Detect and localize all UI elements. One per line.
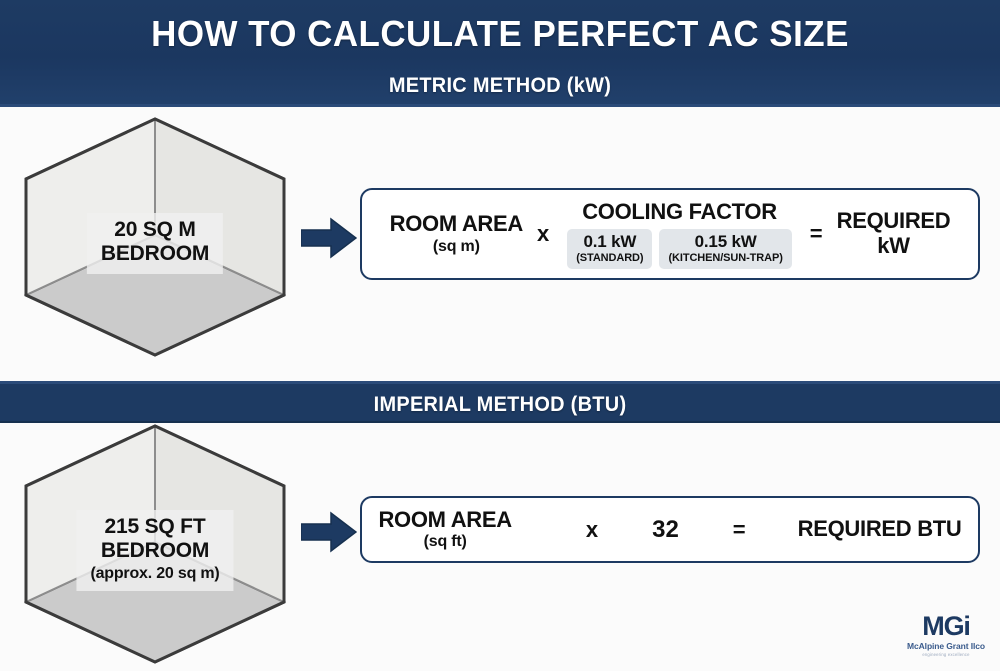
operator-multiply-metric: x — [523, 221, 563, 247]
page-title: HOW TO CALCULATE PERFECT AC SIZE — [15, 13, 985, 55]
infographic-page: HOW TO CALCULATE PERFECT AC SIZE METRIC … — [0, 0, 1000, 671]
room-area-approx-imperial: (approx. 20 sq m) — [90, 564, 219, 584]
logo-company-name: McAlpine Grant Ilco — [906, 642, 986, 651]
operator-equals-metric: = — [796, 221, 837, 247]
operator-multiply-imperial: x — [572, 517, 612, 543]
room-area-unit-metric: (sq m) — [390, 237, 523, 256]
room-area-label-metric: ROOM AREA — [390, 212, 523, 237]
imperial-section-title: IMPERIAL METHOD (BTU) — [25, 393, 975, 417]
room-diagram-imperial: 215 SQ FT BEDROOM (approx. 20 sq m) — [24, 424, 286, 664]
cooling-factor-label: COOLING FACTOR — [567, 199, 792, 225]
company-logo: MGi McAlpine Grant Ilco engineering exce… — [906, 613, 986, 657]
chip-kitchen-suntrap: 0.15 kW (KITCHEN/SUN-TRAP) — [659, 229, 791, 270]
result-label-imperial: REQUIRED BTU — [798, 517, 962, 542]
room-type-imperial: BEDROOM — [90, 539, 219, 563]
arrow-icon-imperial — [301, 511, 357, 553]
operator-equals-imperial: = — [719, 517, 760, 543]
formula-box-imperial: ROOM AREA (sq ft) x 32 = REQUIRED BTU — [360, 496, 980, 563]
header-banner: HOW TO CALCULATE PERFECT AC SIZE METRIC … — [0, 0, 1000, 107]
chip-kitchen-suntrap-value: 0.15 kW — [668, 233, 782, 252]
multiplier-value-imperial: 32 — [652, 516, 679, 544]
arrow-icon-metric — [301, 217, 357, 259]
chip-standard: 0.1 kW (STANDARD) — [567, 229, 652, 270]
term-result-metric: REQUIRED kW — [837, 209, 951, 258]
room-label-imperial: 215 SQ FT BEDROOM (approx. 20 sq m) — [76, 510, 233, 591]
room-diagram-metric: 20 SQ M BEDROOM — [24, 117, 286, 357]
logo-tagline: engineering excellence — [906, 653, 986, 657]
cooling-factor-chips: 0.1 kW (STANDARD) 0.15 kW (KITCHEN/SUN-T… — [567, 229, 792, 270]
room-area-unit-imperial: (sq ft) — [378, 532, 511, 551]
room-area-metric: 20 SQ M — [101, 218, 209, 242]
term-room-area-metric: ROOM AREA (sq m) — [390, 212, 523, 256]
room-type-metric: BEDROOM — [101, 242, 209, 266]
term-room-area-imperial: ROOM AREA (sq ft) — [374, 508, 515, 552]
cooling-factor-group: COOLING FACTOR 0.1 kW (STANDARD) 0.15 kW… — [563, 199, 796, 270]
room-label-metric: 20 SQ M BEDROOM — [87, 213, 223, 274]
result-label-metric: REQUIRED — [837, 209, 951, 234]
formula-box-metric: ROOM AREA (sq m) x COOLING FACTOR 0.1 kW… — [360, 188, 980, 280]
imperial-section-banner: IMPERIAL METHOD (BTU) — [0, 381, 1000, 423]
metric-section-title: METRIC METHOD (kW) — [25, 74, 975, 98]
result-unit-metric: kW — [837, 234, 951, 259]
room-area-imperial: 215 SQ FT — [90, 515, 219, 539]
room-area-label-imperial: ROOM AREA — [378, 508, 511, 533]
term-result-imperial: REQUIRED BTU — [794, 517, 966, 542]
chip-standard-value: 0.1 kW — [576, 233, 643, 252]
chip-kitchen-suntrap-note: (KITCHEN/SUN-TRAP) — [668, 252, 782, 264]
chip-standard-note: (STANDARD) — [576, 252, 643, 264]
logo-mark-mgi: MGi — [922, 613, 969, 640]
